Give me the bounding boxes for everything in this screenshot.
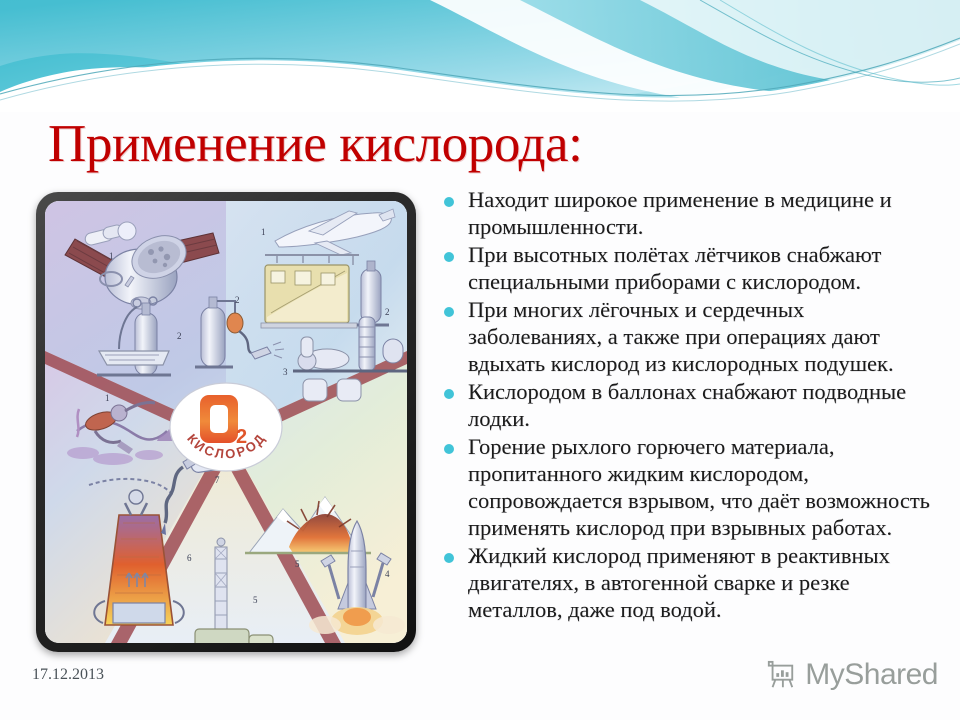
watermark-text: MyShared (805, 658, 938, 692)
bullet-dot-icon (444, 252, 454, 262)
svg-text:1: 1 (109, 251, 114, 261)
svg-text:1: 1 (105, 393, 110, 403)
bullet-text: Жидкий кислород применяют в реактивных д… (468, 542, 936, 623)
svg-text:2: 2 (235, 295, 240, 305)
oxygen-applications-illustration[interactable]: 1 1 (36, 192, 416, 652)
list-item: Горение рыхлого горючего материала, проп… (444, 433, 936, 541)
list-item: При высотных полётах лётчиков снабжают с… (444, 241, 936, 295)
svg-text:7: 7 (215, 475, 220, 485)
bullet-text: При многих лёгочных и сердечных заболева… (468, 296, 936, 377)
svg-text:2: 2 (177, 331, 182, 341)
bullet-dot-icon (444, 553, 454, 563)
bullet-text: Находит широкое применение в медицине и … (468, 186, 936, 240)
list-item: Находит широкое применение в медицине и … (444, 186, 936, 240)
list-item: Кислородом в баллонах снабжают подводные… (444, 378, 936, 432)
bullet-list: Находит широкое применение в медицине и … (444, 186, 936, 624)
picture-content: 1 1 (45, 201, 407, 643)
myshared-watermark: MyShared (766, 658, 938, 692)
bullet-dot-icon (444, 307, 454, 317)
bullet-text: Кислородом в баллонах снабжают подводные… (468, 378, 936, 432)
svg-text:5: 5 (253, 595, 258, 605)
bullet-dot-icon (444, 197, 454, 207)
list-item: Жидкий кислород применяют в реактивных д… (444, 542, 936, 623)
bullet-dot-icon (444, 444, 454, 454)
presentation-slide: Применение кислорода: (0, 0, 960, 720)
bullet-text: Горение рыхлого горючего материала, проп… (468, 433, 936, 541)
slide-title: Применение кислорода: (48, 112, 928, 176)
list-item: При многих лёгочных и сердечных заболева… (444, 296, 936, 377)
presentation-chart-icon (766, 660, 796, 690)
svg-text:4: 4 (385, 569, 390, 579)
svg-text:3: 3 (283, 367, 288, 377)
date-stamp: 17.12.2013 (32, 666, 104, 684)
bullet-dot-icon (444, 389, 454, 399)
header-decoration (0, 0, 960, 112)
svg-text:1: 1 (261, 227, 266, 237)
svg-text:6: 6 (187, 553, 192, 563)
svg-text:5: 5 (295, 559, 300, 569)
bullet-text: При высотных полётах лётчиков снабжают с… (468, 241, 936, 295)
svg-text:2: 2 (385, 307, 390, 317)
